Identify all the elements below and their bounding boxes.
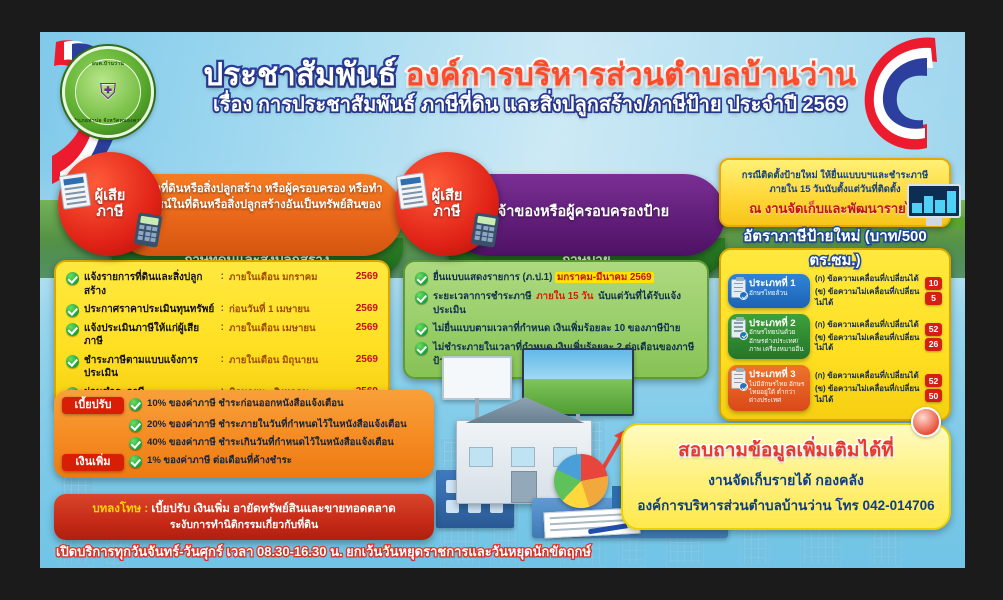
schedule-separator: : — [221, 322, 224, 333]
schedule-year: 2569 — [346, 322, 378, 333]
new-sign-note-line1: กรณีติดตั้งป้ายใหม่ ให้ยื่นแบบบฯและชำระภ… — [729, 168, 941, 182]
schedule-year: 2569 — [346, 303, 378, 314]
penalty-tag-surcharge: เงินเพิ่ม — [62, 454, 124, 471]
legal-line1-text: เบี้ยปรับ เงินเพิ่ม อายัดทรัพย์สินและขาย… — [148, 503, 395, 515]
penalty-row: 40% ของค่าภาษี ชำระเกินวันที่กำหนดไว้ในห… — [62, 436, 424, 450]
footer-hours-bar: เปิดบริการทุกวันจันทร์-วันศุกร์ เวลา 08.… — [40, 534, 965, 568]
taxpayer-land-badge-line2: ภาษี — [96, 204, 123, 220]
penalty-text: 20% ของค่าภาษี ชำระภายในวันที่กำหนดไว้ใน… — [147, 418, 424, 431]
list-item: ระยะเวลาการชำระภาษี ภายใน 15 วัน นับแต่ว… — [415, 290, 697, 318]
rate-desc-cell: (ก) ข้อความเคลื่อนที่/เปลี่ยนได้ (ข) ข้อ… — [815, 274, 920, 308]
rate-value-a: 52 — [925, 323, 942, 336]
schedule-year: 2569 — [346, 354, 378, 365]
rate-type-cell: ประเภทที่ 1 อักษรไทยล้วน — [728, 274, 810, 308]
sign-rule-mark: ภายใน 15 วัน — [534, 291, 595, 302]
sign-rule-pre: ระยะเวลาการชำระภาษี — [433, 291, 534, 302]
taxpayer-sign-badge-line1: ผู้เสีย — [432, 188, 463, 204]
rate-desc-cell: (ก) ข้อความเคลื่อนที่/เปลี่ยนได้ (ข) ข้อ… — [815, 365, 920, 410]
list-item: ไม่ยื่นแบบตามเวลาที่กำหนด เงินเพิ่มร้อยล… — [415, 322, 697, 336]
page-title: ประชาสัมพันธ์ องค์การบริหารส่วนตำบลบ้านว… — [190, 58, 870, 117]
sign-rule-mark: มกราคม-มีนาคม 2569 — [555, 272, 654, 283]
rate-desc-cell: (ก) ข้อความเคลื่อนที่/เปลี่ยนได้ (ข) ข้อ… — [815, 314, 920, 359]
footer-hours-text: เปิดบริการทุกวันจันทร์-วันศุกร์ เวลา 08.… — [56, 541, 591, 562]
rate-table-title: อัตราภาษีป้ายใหม่ (บาท/500 ตร.ซม.) — [719, 224, 951, 272]
rate-type-sub: อักษรไทยล้วน — [749, 290, 806, 298]
table-row: แจ้งรายการที่ดินและสิ่งปลูกสร้าง : ภายใน… — [66, 271, 378, 299]
clipboard-check-icon — [731, 279, 746, 298]
taxpayer-sign-badge-line2: ภาษี — [433, 204, 460, 220]
seal-bottom-text: อำเภอท่าบ่อ จังหวัดหนองคาย — [65, 117, 151, 125]
schedule-value: ภายในเดือน มกราคม — [229, 271, 341, 284]
house-window — [511, 447, 535, 467]
schedule-year: 2569 — [346, 271, 378, 282]
rate-type-cell: ประเภทที่ 3 ไม่มีอักษรไทย อักษรไทยอยู่ใต… — [728, 365, 810, 410]
document-icon — [396, 172, 428, 210]
contact-org-phone: องค์การบริหารส่วนตำบลบ้านว่าน โทร 042-01… — [633, 494, 939, 516]
check-icon — [66, 323, 79, 336]
rate-value-cell: 10 5 — [925, 274, 942, 308]
blank-billboard-icon — [442, 356, 512, 400]
rate-value-b: 26 — [925, 338, 942, 351]
title-part-2: องค์การบริหารส่วนตำบลบ้านว่าน — [406, 57, 857, 92]
penalty-row: เงินเพิ่ม 1% ของค่าภาษี ต่อเดือนที่ค้างช… — [62, 454, 424, 471]
schedule-value: ก่อนวันที่ 1 เมษายน — [229, 303, 341, 316]
table-row: ชำระภาษีตามแบบแจ้งการประเมิน : ภายในเดือ… — [66, 354, 378, 382]
land-tax-schedule-card: แจ้งรายการที่ดินและสิ่งปลูกสร้าง : ภายใน… — [54, 260, 390, 410]
taxpayer-sign-badge: ผู้เสีย ภาษี — [395, 152, 499, 256]
check-icon — [415, 291, 428, 304]
seal-emblem-glyph: ⛨ — [100, 79, 117, 105]
check-icon — [66, 272, 79, 285]
rate-value-b: 50 — [925, 389, 942, 402]
legal-tag: บทลงโทษ : — [92, 503, 148, 515]
document-icon — [59, 172, 91, 210]
house-window — [469, 447, 493, 467]
schedule-label: ชำระภาษีตามแบบแจ้งการประเมิน — [84, 354, 216, 382]
computer-monitor-icon — [907, 184, 961, 228]
sign-rule-pre: ยื่นแบบแสดงรายการ (ภ.ป.1) — [433, 272, 555, 283]
check-icon — [415, 323, 428, 336]
rate-type-sub: ไม่มีอักษรไทย อักษรไทยอยู่ใต้ ต่ำกว่าต่า… — [749, 381, 806, 406]
schedule-separator: : — [221, 303, 224, 314]
check-icon — [415, 272, 428, 285]
calculator-icon — [471, 212, 500, 247]
sign-rule-text: ยื่นแบบแสดงรายการ (ภ.ป.1) มกราคม-มีนาคม … — [433, 271, 697, 285]
check-icon — [129, 419, 142, 432]
sign-rule-text: ระยะเวลาการชำระภาษี ภายใน 15 วัน นับแต่ว… — [433, 290, 697, 318]
contact-heading: สอบถามข้อมูลเพิ่มเติมได้ที่ — [633, 435, 939, 465]
table-row: ประกาศราคาประเมินทุนทรัพย์ : ก่อนวันที่ … — [66, 303, 378, 317]
calculator-icon — [134, 212, 163, 247]
seal-inner-emblem: ⛨ — [75, 59, 141, 125]
rate-desc-a: (ก) ข้อความเคลื่อนที่/เปลี่ยนได้ — [815, 274, 920, 284]
check-icon — [66, 355, 79, 368]
seal-top-text: อบต.บ้านว่าน — [65, 60, 151, 68]
penalty-row: 20% ของค่าภาษี ชำระภายในวันที่กำหนดไว้ใน… — [62, 418, 424, 432]
pie-chart-icon — [554, 454, 608, 508]
rate-type-label: ประเภทที่ 1 — [749, 278, 806, 290]
rate-desc-a: (ก) ข้อความเคลื่อนที่/เปลี่ยนได้ — [815, 320, 920, 330]
penalty-card: เบี้ยปรับ 10% ของค่าภาษี ชำระก่อนออกหนัง… — [54, 390, 434, 478]
check-icon — [129, 455, 142, 468]
contact-card: สอบถามข้อมูลเพิ่มเติมได้ที่ งานจัดเก็บรา… — [621, 423, 951, 530]
taxpayer-land-badge-line1: ผู้เสีย — [95, 188, 126, 204]
sign-tax-rate-table: ประเภทที่ 1 อักษรไทยล้วน (ก) ข้อความเคลื… — [719, 248, 951, 421]
table-row: แจ้งประเมินภาษีให้แก่ผู้เสียภาษี : ภายใน… — [66, 322, 378, 350]
rate-value-a: 10 — [925, 277, 942, 290]
monitor-screen — [907, 184, 961, 218]
schedule-value: ภายในเดือน เมษายน — [229, 322, 341, 335]
rate-type-sub: อักษรไทยปนด้วย อักษรต่างประเทศ/ภาพ เครื่… — [749, 329, 806, 354]
penalty-tag-empty — [62, 418, 124, 422]
rate-desc-b: (ข) ข้อความไม่เคลื่อนที่/เปลี่ยนไม่ได้ — [815, 333, 920, 354]
penalty-text: 1% ของค่าภาษี ต่อเดือนที่ค้างชำระ — [147, 454, 424, 467]
rate-desc-b: (ข) ข้อความไม่เคลื่อนที่/เปลี่ยนไม่ได้ — [815, 384, 920, 405]
penalty-tag-fine: เบี้ยปรับ — [62, 397, 124, 414]
rate-type-cell: ประเภทที่ 2 อักษรไทยปนด้วย อักษรต่างประเ… — [728, 314, 810, 359]
title-part-1: ประชาสัมพันธ์ — [204, 57, 406, 92]
penalty-tag-empty — [62, 436, 124, 440]
poster-canvas: อบต.บ้านว่าน ⛨ อำเภอท่าบ่อ จังหวัดหนองคา… — [40, 32, 965, 568]
penalty-text: 10% ของค่าภาษี ชำระก่อนออกหนังสือแจ้งเตื… — [147, 397, 424, 410]
table-row: ประเภทที่ 3 ไม่มีอักษรไทย อักษรไทยอยู่ใต… — [728, 365, 942, 410]
penalty-text: 40% ของค่าภาษี ชำระเกินวันที่กำหนดไว้ในห… — [147, 436, 424, 449]
check-icon — [129, 398, 142, 411]
table-row: ประเภทที่ 2 อักษรไทยปนด้วย อักษรต่างประเ… — [728, 314, 942, 359]
schedule-separator: : — [221, 354, 224, 365]
rate-value-cell: 52 50 — [925, 365, 942, 410]
table-row: ประเภทที่ 1 อักษรไทยล้วน (ก) ข้อความเคลื… — [728, 274, 942, 308]
penalty-row: เบี้ยปรับ 10% ของค่าภาษี ชำระก่อนออกหนัง… — [62, 397, 424, 414]
sign-rule-text: ไม่ยื่นแบบตามเวลาที่กำหนด เงินเพิ่มร้อยล… — [433, 322, 697, 336]
rate-desc-a: (ก) ข้อความเคลื่อนที่/เปลี่ยนได้ — [815, 371, 920, 381]
rate-value-cell: 52 26 — [925, 314, 942, 359]
schedule-label: แจ้งรายการที่ดินและสิ่งปลูกสร้าง — [84, 271, 216, 299]
schedule-label: แจ้งประเมินภาษีให้แก่ผู้เสียภาษี — [84, 322, 216, 350]
rate-type-label: ประเภทที่ 3 — [749, 369, 806, 381]
check-icon — [415, 342, 428, 355]
taxpayer-land-badge: ผู้เสีย ภาษี — [58, 152, 162, 256]
check-icon — [129, 437, 142, 450]
contact-office: งานจัดเก็บรายได้ กองคลัง — [633, 470, 939, 492]
rate-desc-b: (ข) ข้อความไม่เคลื่อนที่/เปลี่ยนไม่ได้ — [815, 287, 920, 308]
legal-consequences-card: บทลงโทษ : เบี้ยปรับ เงินเพิ่ม อายัดทรัพย… — [54, 494, 434, 540]
legal-line-2: ระงับการทำนิติกรรมเกี่ยวกับที่ดิน — [64, 518, 424, 533]
rate-value-a: 52 — [925, 374, 942, 387]
list-item: ยื่นแบบแสดงรายการ (ภ.ป.1) มกราคม-มีนาคม … — [415, 271, 697, 285]
page-subtitle: เรื่อง การประชาสัมพันธ์ ภาษีที่ดิน และสิ… — [190, 95, 870, 117]
schedule-label: ประกาศราคาประเมินทุนทรัพย์ — [84, 303, 216, 317]
legal-line-1: บทลงโทษ : เบี้ยปรับ เงินเพิ่ม อายัดทรัพย… — [64, 501, 424, 518]
rate-value-b: 5 — [925, 292, 942, 305]
schedule-separator: : — [221, 271, 224, 282]
municipality-seal-small — [911, 407, 941, 437]
rate-type-label: ประเภทที่ 2 — [749, 318, 806, 330]
check-icon — [66, 304, 79, 317]
schedule-value: ภายในเดือน มิถุนายน — [229, 354, 341, 367]
clipboard-check-icon — [731, 319, 746, 338]
municipality-seal-logo: อบต.บ้านว่าน ⛨ อำเภอท่าบ่อ จังหวัดหนองคา… — [62, 46, 154, 138]
